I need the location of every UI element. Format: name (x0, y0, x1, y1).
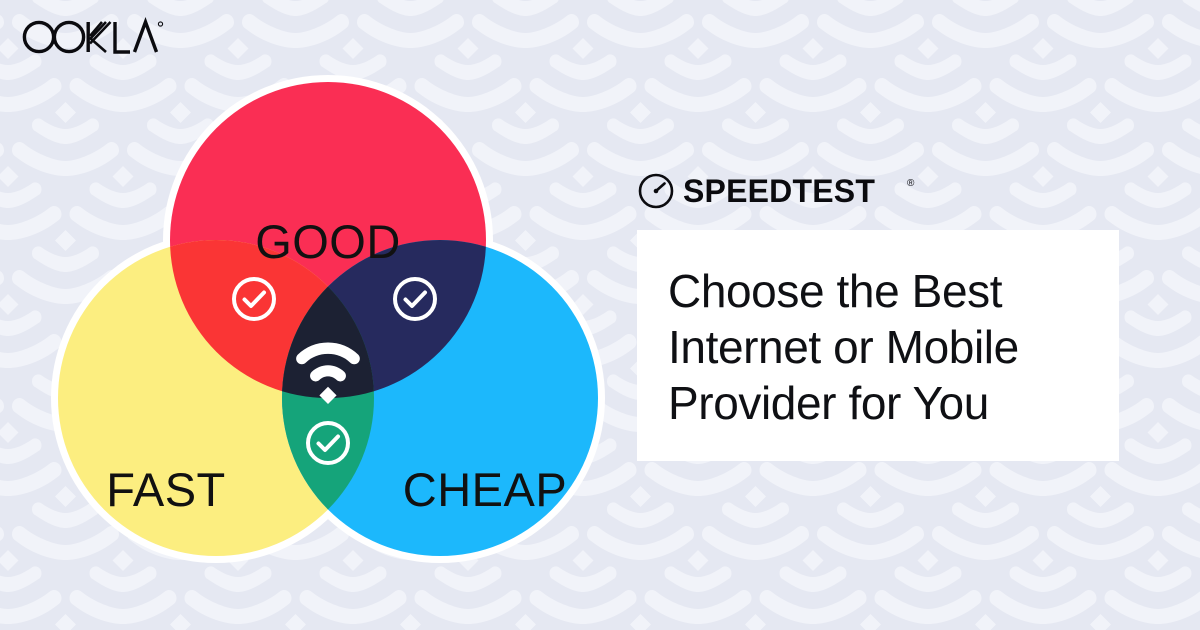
social-card: GOOD FAST CHEAP SPEEDTEST ® Choose the B… (0, 0, 1200, 630)
headline-box: Choose the Best Internet or Mobile Provi… (637, 230, 1119, 461)
venn-label-good: GOOD (255, 215, 401, 268)
content-column: SPEEDTEST ® Choose the Best Internet or … (637, 168, 1119, 461)
svg-text:®: ® (907, 178, 915, 189)
svg-text:SPEEDTEST: SPEEDTEST (683, 173, 875, 209)
headline-line-2: Internet or Mobile (668, 319, 1119, 375)
headline-line-3: Provider for You (668, 375, 1119, 431)
venn-label-cheap: CHEAP (403, 463, 567, 516)
speedometer-icon (640, 175, 672, 207)
headline-line-1: Choose the Best (668, 263, 1119, 319)
ookla-logo[interactable] (16, 14, 166, 60)
venn-label-fast: FAST (106, 463, 226, 516)
venn-diagram: GOOD FAST CHEAP (48, 62, 608, 574)
speedtest-logo[interactable]: SPEEDTEST ® (637, 168, 1119, 214)
